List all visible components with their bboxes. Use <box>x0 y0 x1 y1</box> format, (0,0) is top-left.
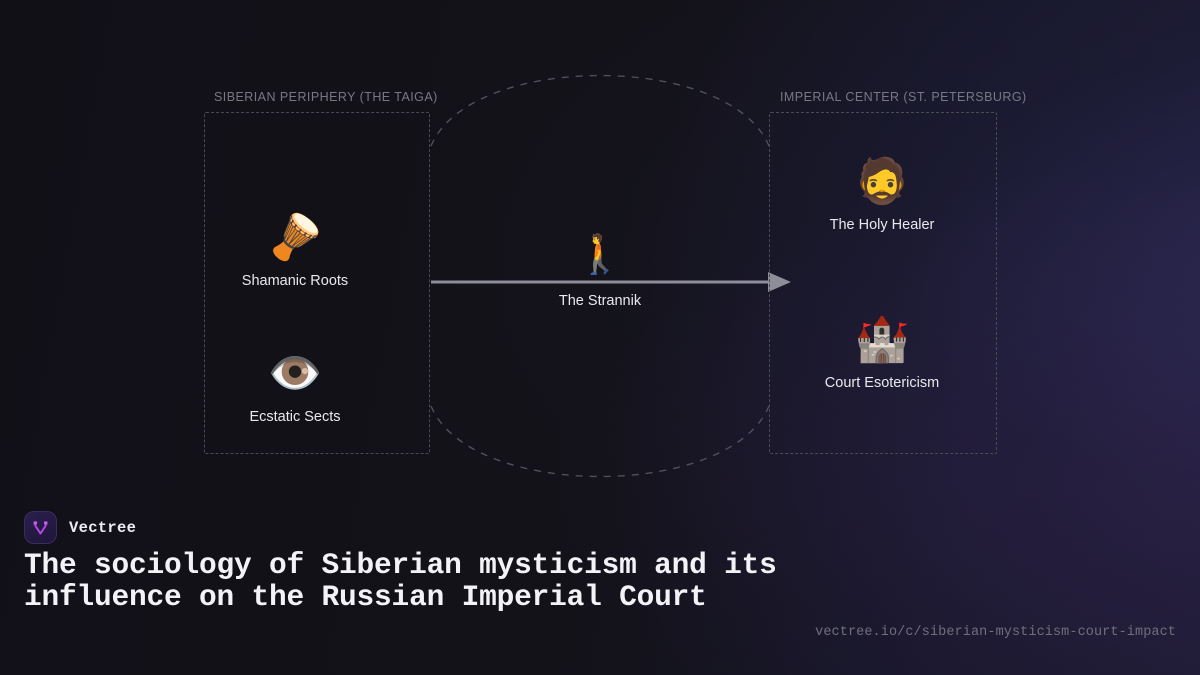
arc-lower-connector <box>431 406 769 477</box>
node-label-court-esotericism: Court Esotericism <box>787 374 977 392</box>
node-the-strannik[interactable]: 🚶 The Strannik <box>505 232 695 310</box>
vectree-logo-icon <box>24 511 57 544</box>
bearded-person-icon: 🧔 <box>787 156 977 208</box>
walking-person-icon: 🚶 <box>505 232 695 276</box>
brand-name: Vectree <box>69 519 136 537</box>
diagram-canvas: SIBERIAN PERIPHERY (THE TAIGA) IMPERIAL … <box>0 0 1200 480</box>
node-label-shamanic-roots: Shamanic Roots <box>200 272 390 290</box>
brand-block[interactable]: Vectree <box>24 511 136 544</box>
arc-upper-connector <box>431 76 769 147</box>
node-shamanic-roots[interactable]: 🪘 Shamanic Roots <box>200 212 390 290</box>
group-label-imperial-center: IMPERIAL CENTER (ST. PETERSBURG) <box>780 90 1027 104</box>
group-label-siberian-periphery: SIBERIAN PERIPHERY (THE TAIGA) <box>214 90 438 104</box>
node-label-the-strannik: The Strannik <box>505 292 695 310</box>
screenshot-root: SIBERIAN PERIPHERY (THE TAIGA) IMPERIAL … <box>0 0 1200 675</box>
node-ecstatic-sects[interactable]: 👁️ Ecstatic Sects <box>200 348 390 426</box>
node-label-the-holy-healer: The Holy Healer <box>787 216 977 234</box>
eye-icon: 👁️ <box>200 348 390 400</box>
share-url: vectree.io/c/siberian-mysticism-court-im… <box>815 625 1176 640</box>
headline: The sociology of Siberian mysticism and … <box>24 549 814 613</box>
footer: Vectree The sociology of Siberian mystic… <box>0 480 1200 675</box>
node-the-holy-healer[interactable]: 🧔 The Holy Healer <box>787 156 977 234</box>
vectree-logo-glyph <box>31 518 50 537</box>
node-court-esotericism[interactable]: 🏰 Court Esotericism <box>787 314 977 392</box>
node-label-ecstatic-sects: Ecstatic Sects <box>200 408 390 426</box>
castle-icon: 🏰 <box>787 314 977 366</box>
drum-icon: 🪘 <box>200 212 390 264</box>
